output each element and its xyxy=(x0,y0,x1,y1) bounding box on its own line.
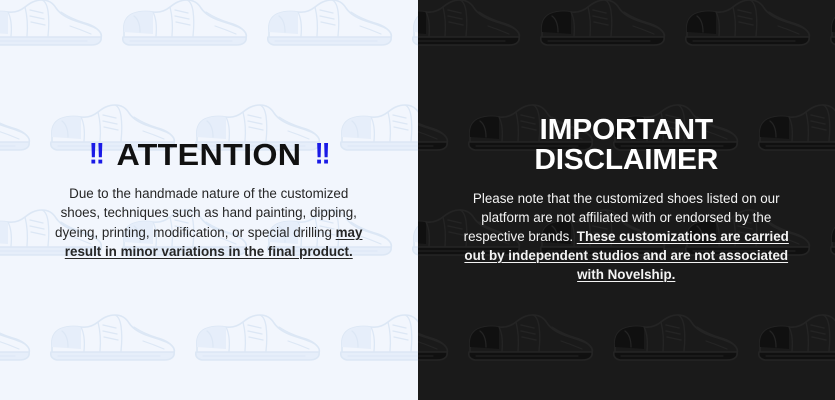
disclaimer-panel: IMPORTANT DISCLAIMER Please note that th… xyxy=(418,0,835,400)
double-exclamation-right-icon: !! xyxy=(315,140,329,169)
attention-content: !! ATTENTION !! Due to the handmade natu… xyxy=(0,0,418,400)
attention-body-text: Due to the handmade nature of the custom… xyxy=(49,184,369,260)
attention-panel: !! ATTENTION !! Due to the handmade natu… xyxy=(0,0,418,400)
disclaimer-content: IMPORTANT DISCLAIMER Please note that th… xyxy=(418,0,835,400)
dual-notice-banner: !! ATTENTION !! Due to the handmade natu… xyxy=(0,0,835,400)
attention-body-regular: Due to the handmade nature of the custom… xyxy=(55,186,357,239)
double-exclamation-left-icon: !! xyxy=(89,140,103,169)
disclaimer-title-line-2: DISCLAIMER xyxy=(534,146,718,176)
disclaimer-body-text: Please note that the customized shoes li… xyxy=(461,189,791,284)
disclaimer-title-line-1: IMPORTANT xyxy=(534,116,718,146)
attention-heading: !! ATTENTION !! xyxy=(89,139,329,170)
disclaimer-heading: IMPORTANT DISCLAIMER xyxy=(534,116,718,175)
attention-title: ATTENTION xyxy=(116,139,301,170)
